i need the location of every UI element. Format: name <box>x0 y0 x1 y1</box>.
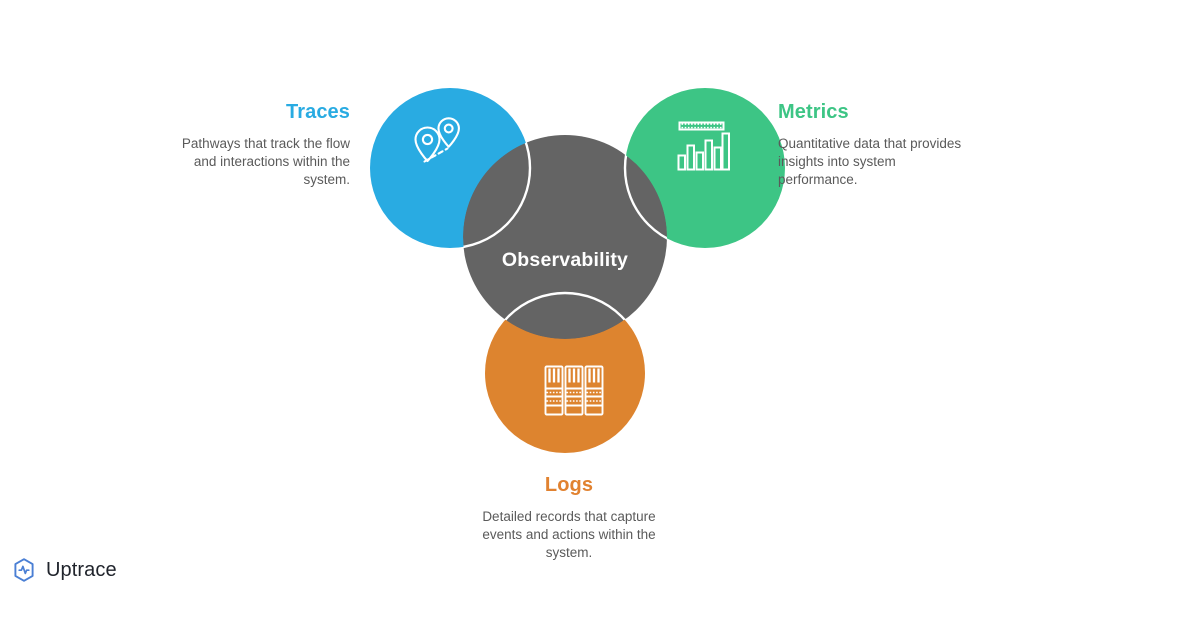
metrics-title: Metrics <box>778 100 968 124</box>
traces-label-block: Traces Pathways that track the flow and … <box>168 100 350 189</box>
infographic-canvas: Observability Traces Pathways that track… <box>0 0 1200 630</box>
logs-description: Detailed records that capture events and… <box>474 508 664 562</box>
brand-name: Uptrace <box>46 559 117 582</box>
traces-title: Traces <box>168 100 350 124</box>
metrics-description: Quantitative data that provides insights… <box>778 135 968 189</box>
traces-description: Pathways that track the flow and interac… <box>168 135 350 189</box>
uptrace-hexagon-pulse-logo <box>10 556 38 584</box>
observability-label: Observability <box>502 249 628 271</box>
logs-title: Logs <box>474 473 664 497</box>
brand-lockup: Uptrace <box>10 556 117 584</box>
logs-label-block: Logs Detailed records that capture event… <box>474 473 664 562</box>
metrics-label-block: Metrics Quantitative data that provides … <box>778 100 968 189</box>
